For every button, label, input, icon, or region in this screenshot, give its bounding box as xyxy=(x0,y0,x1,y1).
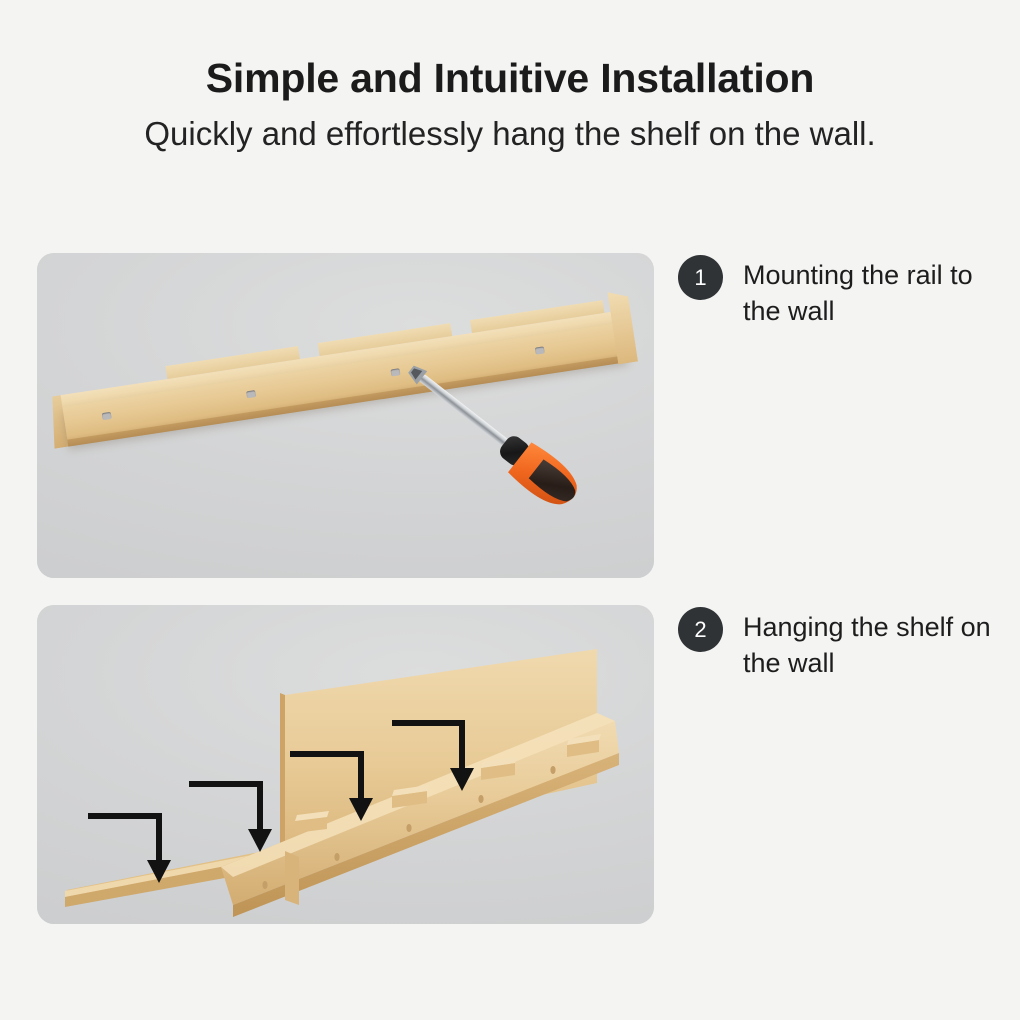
step-1-label: 1 Mounting the rail to the wall xyxy=(678,255,1020,329)
shelf-side-return xyxy=(285,851,299,905)
hanging-shelf-photo xyxy=(37,605,654,924)
step-number-badge: 2 xyxy=(678,607,723,652)
screwdriver-shaft xyxy=(418,373,517,453)
tool-svg xyxy=(37,253,654,578)
page-subtitle: Quickly and effortlessly hang the shelf … xyxy=(0,101,1020,153)
step-number-badge: 1 xyxy=(678,255,723,300)
page-header: Simple and Intuitive Installation Quickl… xyxy=(0,0,1020,153)
step-description: Hanging the shelf on the wall xyxy=(743,607,993,681)
screwdriver-and-hand xyxy=(37,253,654,578)
shelf-svg xyxy=(37,605,654,924)
step-description: Mounting the rail to the wall xyxy=(743,255,993,329)
floating-shelf-illustration xyxy=(37,605,654,924)
page-title: Simple and Intuitive Installation xyxy=(0,0,1020,101)
step-2-label: 2 Hanging the shelf on the wall xyxy=(678,607,1020,681)
mounting-rail-photo xyxy=(37,253,654,578)
